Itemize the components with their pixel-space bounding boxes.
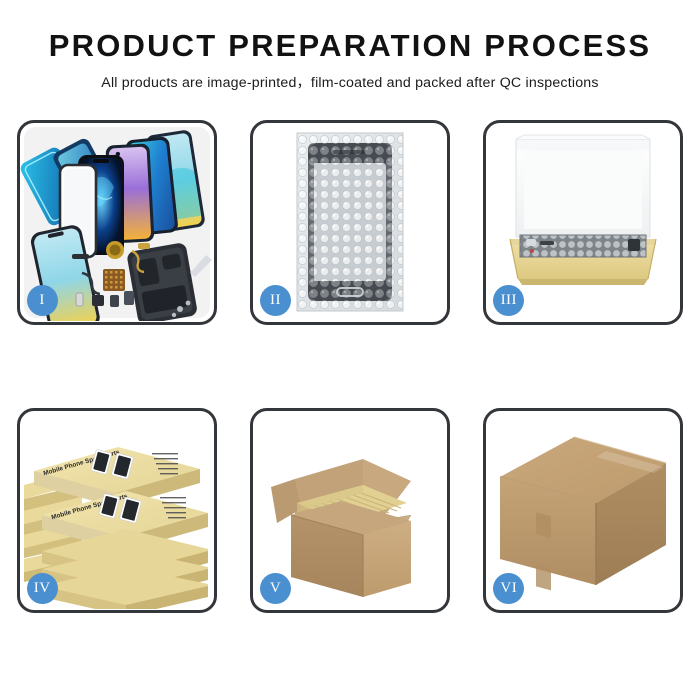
step-panel-3[interactable]: III [483,120,683,325]
step-panel-4[interactable]: Mobile Phone Spare Parts [17,408,217,613]
step-badge-4: IV [27,573,58,604]
process-grid: I [0,120,700,696]
step-panel-1[interactable]: I [17,120,217,325]
step-badge-2: II [260,285,291,316]
step-panel-5[interactable]: V [250,408,450,613]
step-badge-5: V [260,573,291,604]
page-subtitle: All products are image-printed，film-coat… [0,72,700,92]
step-panel-6[interactable]: VI [483,408,683,613]
step-badge-1: I [27,285,58,316]
page-header: PRODUCT PREPARATION PROCESS All products… [0,0,700,92]
step-panel-2[interactable]: II [250,120,450,325]
page-title: PRODUCT PREPARATION PROCESS [0,30,700,63]
